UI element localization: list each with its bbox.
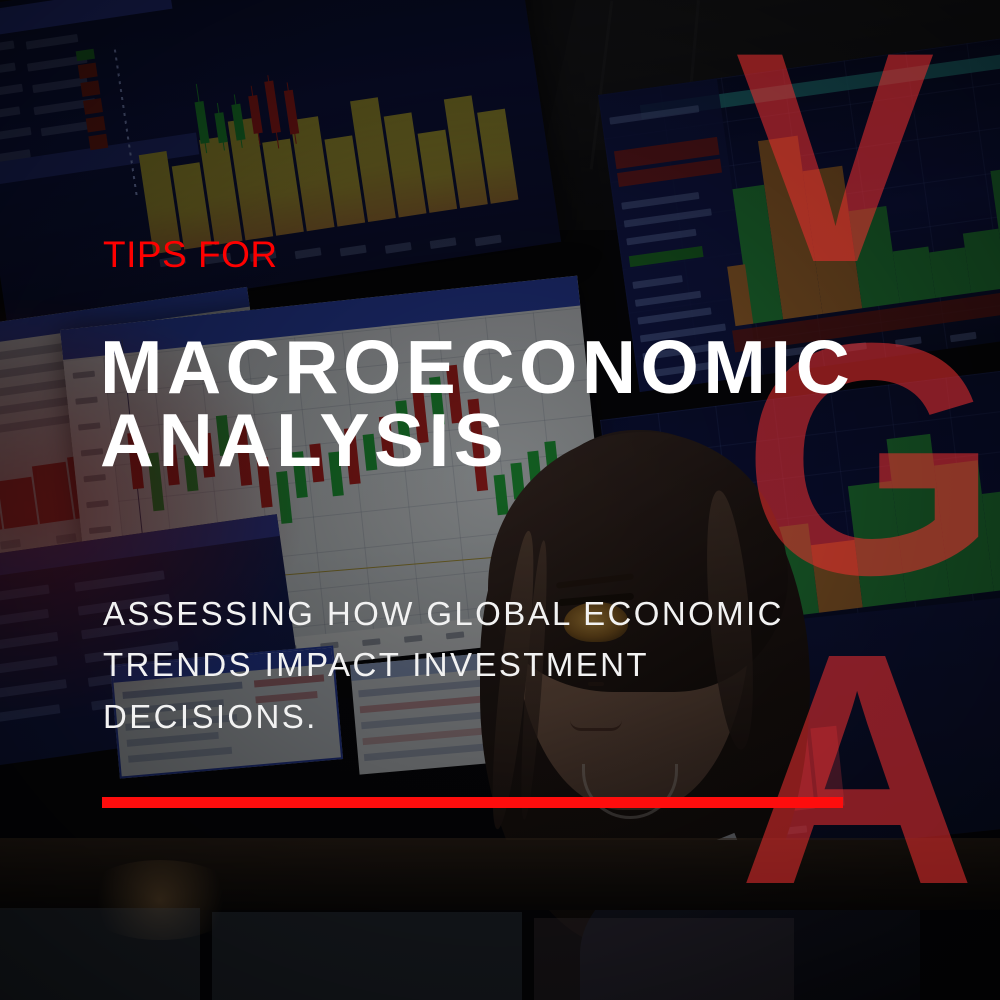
chart-divider xyxy=(114,49,138,198)
monitor-header-bar xyxy=(0,0,172,40)
background-photo xyxy=(0,0,1000,1000)
kicker-text: TIPS FOR xyxy=(103,236,278,273)
accent-rule xyxy=(102,797,843,808)
table-row xyxy=(0,656,58,676)
status-block-down xyxy=(88,134,108,151)
axis-label xyxy=(0,539,21,550)
table-row xyxy=(0,585,50,605)
axis-label xyxy=(340,245,367,257)
ticker-row xyxy=(32,77,88,93)
table-row xyxy=(0,704,60,723)
page-title: MACROECONOMIC ANALYSIS xyxy=(100,331,920,477)
bottom-monitor xyxy=(212,912,522,1000)
table-row xyxy=(0,609,49,628)
bottom-monitor xyxy=(534,918,794,1000)
bottom-monitor xyxy=(0,908,200,1000)
status-block-up xyxy=(76,49,95,62)
axis-label xyxy=(295,247,322,259)
axis-label xyxy=(475,235,502,247)
monitor-top-left xyxy=(0,0,561,324)
status-block-down xyxy=(78,63,98,80)
candle-down xyxy=(284,90,299,135)
table-row xyxy=(0,679,67,700)
poster-canvas: V G A TIPS FOR MACROECONOMIC ANALYSIS AS… xyxy=(0,0,1000,1000)
ticker-row xyxy=(0,84,23,98)
ticker-row xyxy=(0,127,32,141)
axis-label xyxy=(385,242,412,254)
axis-label xyxy=(430,237,457,249)
ticker-row xyxy=(41,121,92,136)
subtitle-text: ASSESSING HOW GLOBAL ECONOMIC TRENDS IMP… xyxy=(103,588,863,742)
ticker-row xyxy=(26,34,79,50)
ticker-row xyxy=(0,106,20,119)
status-block-down xyxy=(86,116,106,133)
title-line-1: MACROECONOMIC xyxy=(100,325,854,409)
candle-down xyxy=(264,81,281,134)
status-block-down xyxy=(80,80,100,97)
status-block-down xyxy=(83,98,103,115)
ticker-row xyxy=(0,40,15,54)
title-line-2: ANALYSIS xyxy=(100,404,920,477)
table-row xyxy=(128,747,232,763)
ticker-row xyxy=(0,63,16,77)
bar-red xyxy=(32,462,74,524)
table-row xyxy=(0,632,58,652)
bar-red xyxy=(0,477,38,529)
